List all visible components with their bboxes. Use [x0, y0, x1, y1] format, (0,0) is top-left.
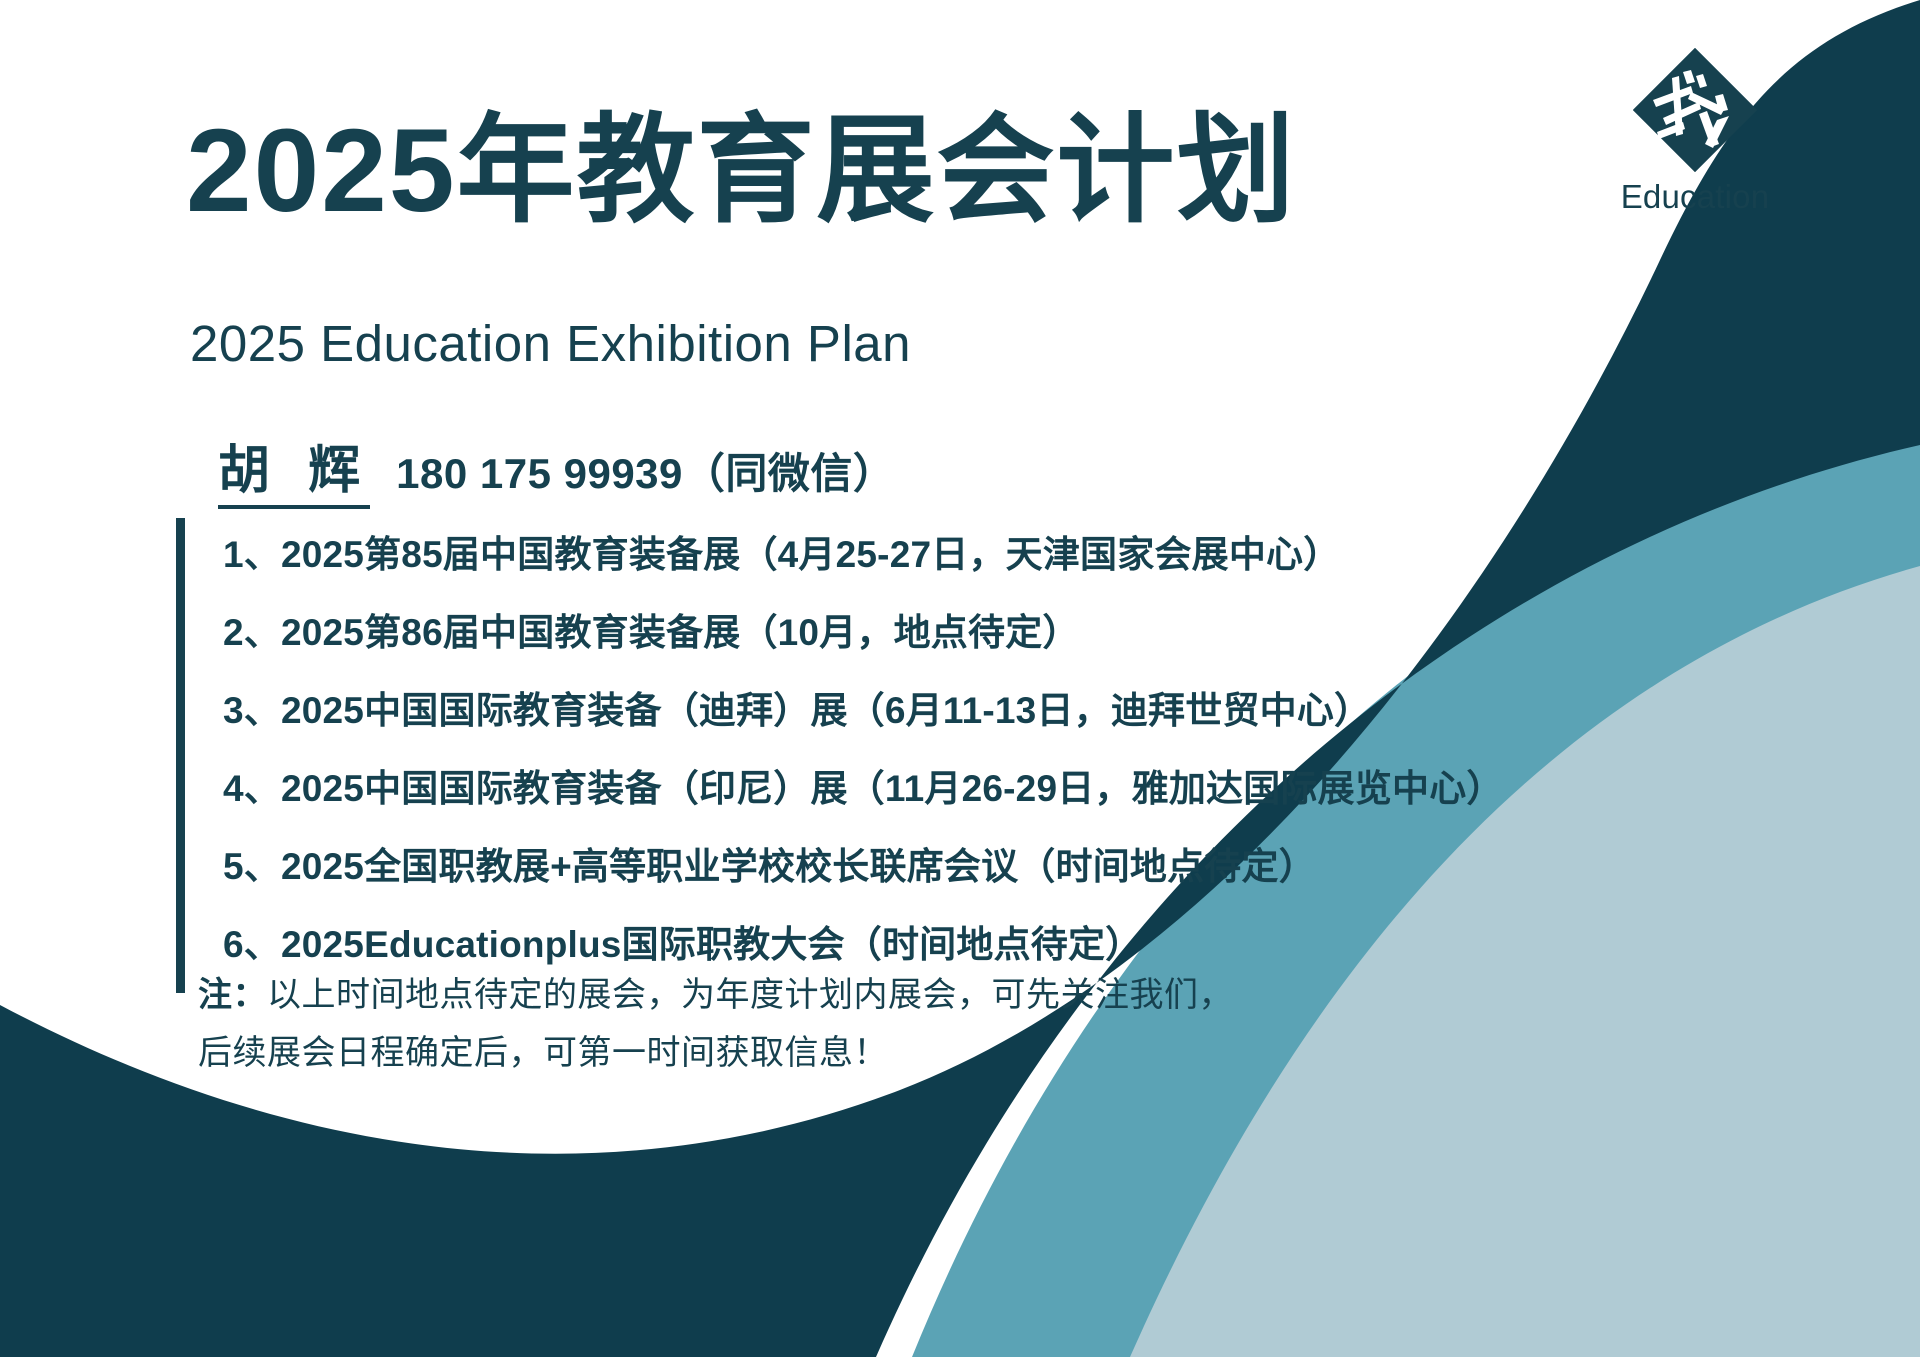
page-title-en: 2025 Education Exhibition Plan: [190, 318, 911, 369]
note-line-2: 后续展会日程确定后，可第一时间获取信息！: [198, 1036, 1398, 1070]
list-item: 3、2025中国国际教育装备（迪拜）展（6月11-13日，迪拜世贸中心）: [223, 692, 1576, 729]
contact-name: 胡 辉: [218, 428, 370, 509]
page-title-cn: 2025年教育展会计划: [186, 112, 1297, 230]
note-block: 注：以上时间地点待定的展会，为年度计划内展会，可先关注我们， 后续展会日程确定后…: [198, 978, 1398, 1094]
list-item: 6、2025Educationplus国际职教大会（时间地点待定）: [223, 926, 1576, 963]
logo-label: Education: [1575, 178, 1815, 216]
note-line-1: 注：以上时间地点待定的展会，为年度计划内展会，可先关注我们，: [198, 978, 1398, 1012]
education-diamond-icon: [1633, 48, 1757, 172]
note-label: 注：: [198, 976, 267, 1014]
list-item: 5、2025全国职教展+高等职业学校校长联席会议（时间地点待定）: [223, 848, 1576, 885]
brand-logo: Education: [1575, 48, 1815, 216]
poster-canvas: Education 2025年教育展会计划 2025 Education Exh…: [0, 0, 1920, 1357]
contact-phone: 180 175 99939（同微信）: [396, 440, 895, 501]
list-item: 1、2025第85届中国教育装备展（4月25-27日，天津国家会展中心）: [223, 536, 1576, 573]
list-item: 2、2025第86届中国教育装备展（10月，地点待定）: [223, 614, 1576, 651]
list-item: 4、2025中国国际教育装备（印尼）展（11月26-29日，雅加达国际展览中心）: [223, 770, 1576, 807]
contact-row: 胡 辉 180 175 99939（同微信）: [218, 428, 895, 509]
exhibition-list: 1、2025第85届中国教育装备展（4月25-27日，天津国家会展中心） 2、2…: [176, 518, 1576, 993]
note-text-1: 以上时间地点待定的展会，为年度计划内展会，可先关注我们，: [267, 976, 1233, 1014]
